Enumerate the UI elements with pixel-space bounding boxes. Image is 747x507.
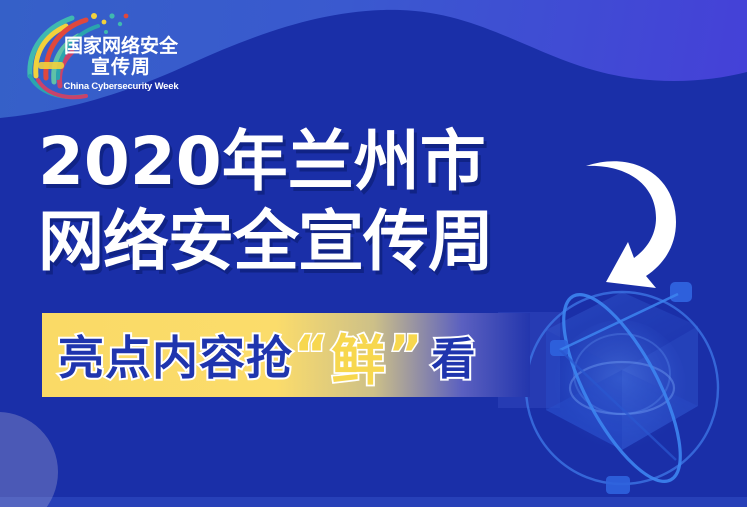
logo-subtitle-en: China Cybersecurity Week <box>58 80 184 93</box>
poster-root: 国家网络安全 宣传周 China Cybersecurity Week 2020… <box>0 0 747 507</box>
logo-title-line1: 国家网络安全 <box>58 36 184 57</box>
logo-title-line2: 宣传周 <box>58 57 184 79</box>
band-text-suffix: 看 <box>431 323 475 387</box>
page-title: 2020年兰州市 网络安全宣传周 <box>38 122 493 282</box>
curved-arrow-down-left-icon <box>572 142 702 292</box>
highlight-band: 亮点内容抢 “ 鲜 ” 看 <box>42 313 542 397</box>
logo: 国家网络安全 宣传周 China Cybersecurity Week <box>8 6 186 104</box>
headline-line-1: 2020年兰州市 <box>38 122 493 202</box>
band-quote-close: ” <box>388 335 422 375</box>
band-keyword: 鲜 <box>331 316 385 395</box>
headline-line-2: 网络安全宣传周 <box>38 202 493 282</box>
band-quote-open: “ <box>294 335 328 375</box>
band-text-prefix: 亮点内容抢 <box>58 322 293 388</box>
logo-text-block: 国家网络安全 宣传周 China Cybersecurity Week <box>58 36 184 93</box>
